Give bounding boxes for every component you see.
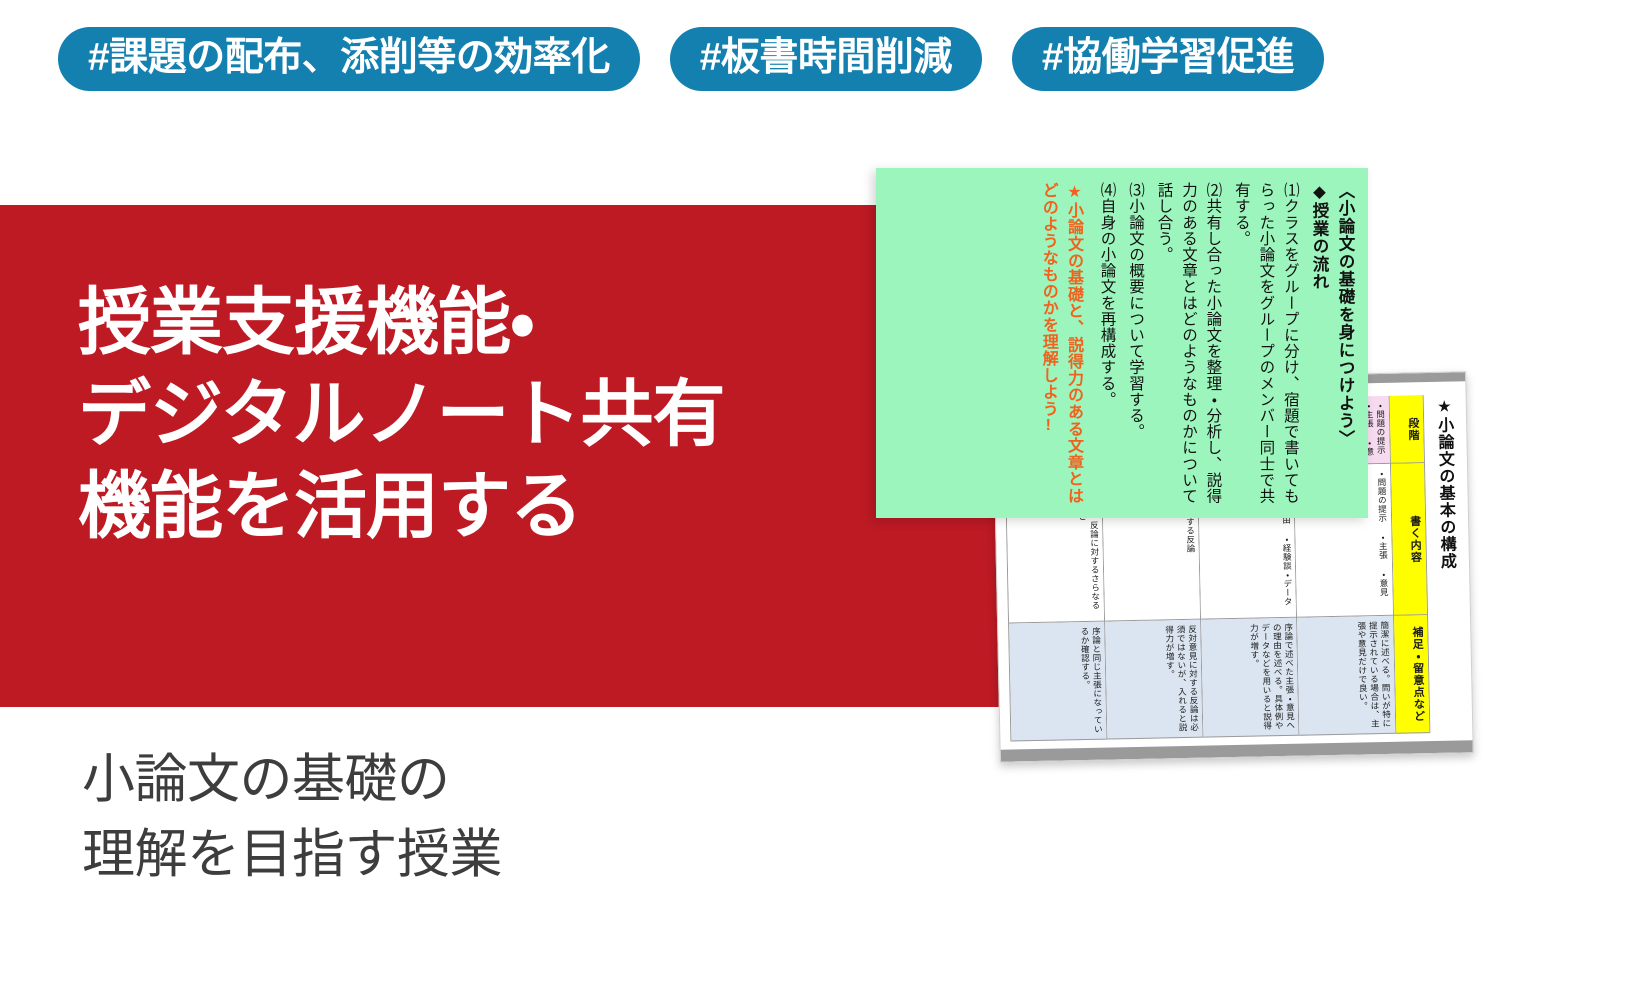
table-row-header-1: 段階 (1389, 395, 1423, 464)
lesson-flow-heading-2: ◆授業の流れ (1306, 182, 1332, 291)
lesson-flow-step-4: ⑷自身の小論文を再構成する。 (1094, 182, 1118, 407)
worksheet-title: ★小論文の基本の構成 (1427, 386, 1466, 737)
lesson-flow-highlight: ★小論文の基礎と、説得力のある文章とはどのようなものかを理解しよう! (1035, 182, 1086, 510)
lesson-flow-step-3: ⑶小論文の概要について学習する。 (1122, 182, 1146, 440)
hashtag-pill-2[interactable]: #板書時間削減 (670, 27, 982, 91)
page-title: 授業支援機能・ デジタルノート共有 機能を活用する (78, 277, 725, 553)
hashtag-pill-1[interactable]: #課題の配布、添削等の効率化 (58, 27, 640, 91)
table-row-header-3: 補足・留意点など (1394, 615, 1429, 734)
table-cell: 簡潔に述べる。問いが特に提示されている場合は、主張や意見だけで良い。 (1297, 616, 1395, 736)
hashtag-list: #課題の配布、添削等の効率化 #板書時間削減 #協働学習促進 (58, 27, 1324, 91)
table-header-column: 段階 書く内容 補足・留意点など (1389, 395, 1430, 734)
table-cell: 反対意見に対する反論は必須ではないが、入れると説得力が増す。 (1105, 620, 1203, 740)
lesson-flow-step-1: ⑴クラスをグループに分け、宿題で書いてもらった小論文をグループのメンバー同士で共… (1228, 182, 1301, 510)
poster-root: #課題の配布、添削等の効率化 #板書時間削減 #協働学習促進 授業支援機能・ デ… (0, 0, 1630, 989)
lesson-flow-card[interactable]: 〈小論文の基礎を身につけよう〉 ◆授業の流れ ⑴クラスをグループに分け、宿題で書… (876, 168, 1368, 518)
lesson-flow-heading-1: 〈小論文の基礎を身につけよう〉 (1332, 182, 1358, 448)
lesson-flow-step-2: ⑵共有し合った小論文を整理・分析し、説得力のある文章とはどのようなものかについて… (1151, 182, 1224, 510)
page-subtitle: 小論文の基礎の 理解を目指す授業 (82, 742, 502, 893)
hashtag-pill-3[interactable]: #協働学習促進 (1012, 27, 1324, 91)
table-cell: 序論で述べた主張・意見への理由を述べる。具体例やデータなどを用いると説得力が増す… (1201, 618, 1299, 738)
table-cell: 序論と同じ主張になっているか確認する。 (1009, 622, 1107, 742)
table-row-header-2: 書く内容 (1391, 463, 1427, 616)
